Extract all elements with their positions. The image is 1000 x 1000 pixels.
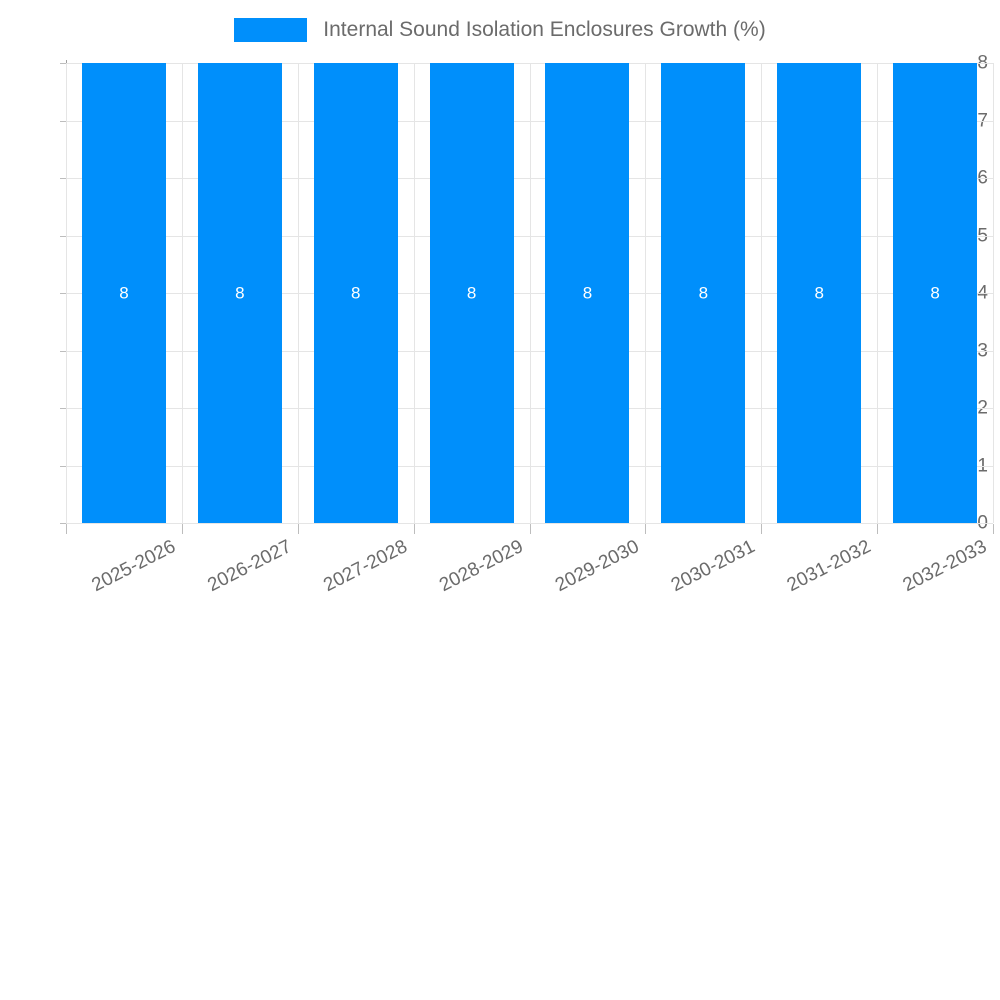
bar-value-label: 8 bbox=[235, 285, 244, 302]
legend-item-label: Internal Sound Isolation Enclosures Grow… bbox=[323, 18, 765, 42]
gridline-vertical bbox=[645, 63, 646, 523]
legend-item-internal-sound-isolation-enclosures-growth[interactable]: Internal Sound Isolation Enclosures Grow… bbox=[234, 18, 765, 42]
x-tick-mark bbox=[993, 524, 994, 534]
bar-chart: Internal Sound Isolation Enclosures Grow… bbox=[0, 0, 1000, 600]
bar-value-label: 8 bbox=[351, 285, 360, 302]
gridline-vertical bbox=[414, 63, 415, 523]
legend-swatch-icon[interactable] bbox=[234, 18, 307, 42]
bar-value-label: 8 bbox=[930, 285, 939, 302]
bar-value-label: 8 bbox=[583, 285, 592, 302]
gridline-vertical bbox=[993, 63, 994, 523]
gridline-vertical bbox=[182, 63, 183, 523]
bar-value-label: 8 bbox=[119, 285, 128, 302]
chart-legend: Internal Sound Isolation Enclosures Grow… bbox=[0, 14, 1000, 46]
x-tick-mark bbox=[298, 524, 299, 534]
x-tick-mark bbox=[66, 524, 67, 534]
gridline-vertical bbox=[66, 63, 67, 523]
x-tick-mark bbox=[414, 524, 415, 534]
gridline-vertical bbox=[761, 63, 762, 523]
x-tick-mark bbox=[530, 524, 531, 534]
x-tick-label: 2031-2032 bbox=[94, 537, 874, 947]
bar-value-label: 8 bbox=[467, 285, 476, 302]
gridline-vertical bbox=[877, 63, 878, 523]
plot-area: 88888888 bbox=[66, 63, 993, 523]
x-tick-label: 2032-2033 bbox=[107, 537, 990, 999]
x-tick-mark bbox=[182, 524, 183, 534]
x-tick-mark bbox=[877, 524, 878, 534]
bar-value-label: 8 bbox=[814, 285, 823, 302]
gridline-vertical bbox=[298, 63, 299, 523]
x-tick-mark bbox=[761, 524, 762, 534]
bar-value-label: 8 bbox=[699, 285, 708, 302]
x-tick-mark bbox=[645, 524, 646, 534]
gridline-vertical bbox=[530, 63, 531, 523]
